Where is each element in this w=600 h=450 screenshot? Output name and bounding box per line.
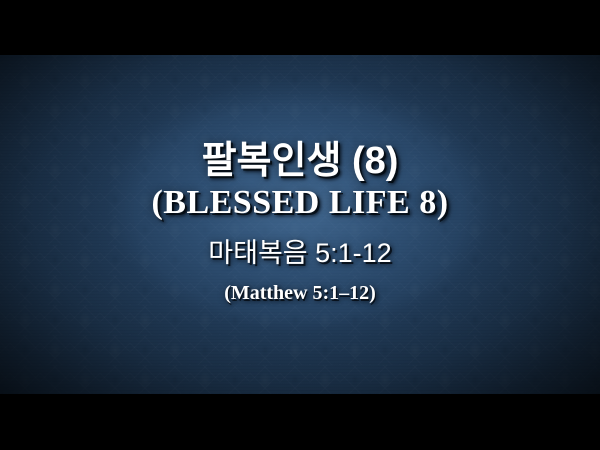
slide-title-english: (BLESSED LIFE 8) <box>151 186 448 220</box>
slide-canvas: 팔복인생 (8) (BLESSED LIFE 8) 마태복음 5:1-12 (M… <box>0 55 600 394</box>
slide-title-block: 팔복인생 (8) (BLESSED LIFE 8) 마태복음 5:1-12 (M… <box>0 55 600 394</box>
letterbox-bar-top <box>0 0 600 55</box>
scripture-reference-english: (Matthew 5:1–12) <box>224 283 376 303</box>
presentation-slide-frame: 팔복인생 (8) (BLESSED LIFE 8) 마태복음 5:1-12 (M… <box>0 0 600 450</box>
scripture-reference-korean: 마태복음 5:1-12 <box>208 240 391 267</box>
slide-title-korean: 팔복인생 (8) <box>202 142 399 180</box>
letterbox-bar-bottom <box>0 394 600 450</box>
